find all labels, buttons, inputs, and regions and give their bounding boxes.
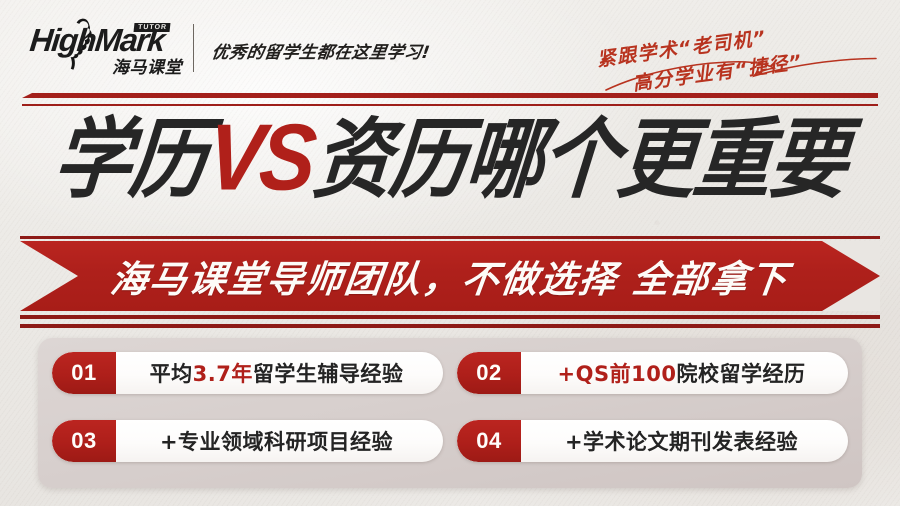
- brand-logo-tutor-badge: TUTOR: [134, 23, 171, 32]
- item-label-suffix: 留学生辅导经验: [253, 358, 404, 388]
- item-number-badge: 04: [457, 420, 521, 462]
- item-label-prefix: +专业领域科研项目经验: [160, 426, 393, 456]
- brand-logo-chinese: 海马课堂: [112, 53, 182, 78]
- divider-rule-thin-top: [22, 104, 878, 106]
- ribbon-rule-bottom: [20, 315, 880, 319]
- divider-rule-thick-top: [22, 93, 878, 98]
- page-title-vs: VS: [201, 104, 318, 209]
- features-list: 01 平均3.7年留学生辅导经验 02 +QS前100院校留学经历 03 +专业…: [52, 352, 848, 474]
- handwritten-slogan-group: 紧跟学术“老司机” 高分学业有“捷径”: [588, 18, 888, 92]
- ribbon-text: 海马课堂导师团队，不做选择 全部拿下: [16, 241, 885, 311]
- item-label-highlight: 3.7年: [193, 358, 253, 388]
- promo-banner: HighMark TUTOR 海马课堂 优秀的留学生都在这里学习! 紧跟学术“老…: [0, 0, 900, 506]
- item-label-highlight: +QS前100: [558, 358, 677, 388]
- page-title-part-1: 学历: [49, 110, 210, 211]
- item-label: +专业领域科研项目经验: [116, 426, 443, 456]
- item-number-badge: 01: [52, 352, 116, 394]
- header-divider: [193, 24, 194, 72]
- ribbon-banner: 海马课堂导师团队，不做选择 全部拿下: [0, 236, 900, 320]
- list-item: 01 平均3.7年留学生辅导经验: [52, 352, 443, 394]
- page-title-text: 学历VS资历哪个更重要: [50, 110, 850, 204]
- item-label-prefix: 平均: [150, 358, 193, 388]
- item-label: 平均3.7年留学生辅导经验: [116, 358, 443, 388]
- ribbon-rule-top: [20, 236, 880, 239]
- brand-tagline: 优秀的留学生都在这里学习!: [210, 38, 432, 63]
- item-label: +QS前100院校留学经历: [521, 358, 848, 388]
- list-item: 02 +QS前100院校留学经历: [457, 352, 848, 394]
- list-item: 03 +专业领域科研项目经验: [52, 420, 443, 462]
- page-title-part-2: 资历哪个更重要: [309, 110, 850, 211]
- brand-logo: HighMark TUTOR 海马课堂: [30, 22, 180, 74]
- item-label: +学术论文期刊发表经验: [521, 426, 848, 456]
- page-title: 学历VS资历哪个更重要: [0, 112, 900, 202]
- divider-rule-below-ribbon: [20, 324, 880, 328]
- item-label-suffix: 院校留学经历: [676, 358, 805, 388]
- item-number-badge: 03: [52, 420, 116, 462]
- banner-header: HighMark TUTOR 海马课堂 优秀的留学生都在这里学习! 紧跟学术“老…: [0, 0, 900, 92]
- list-item: 04 +学术论文期刊发表经验: [457, 420, 848, 462]
- item-number-badge: 02: [457, 352, 521, 394]
- item-label-prefix: +学术论文期刊发表经验: [565, 426, 798, 456]
